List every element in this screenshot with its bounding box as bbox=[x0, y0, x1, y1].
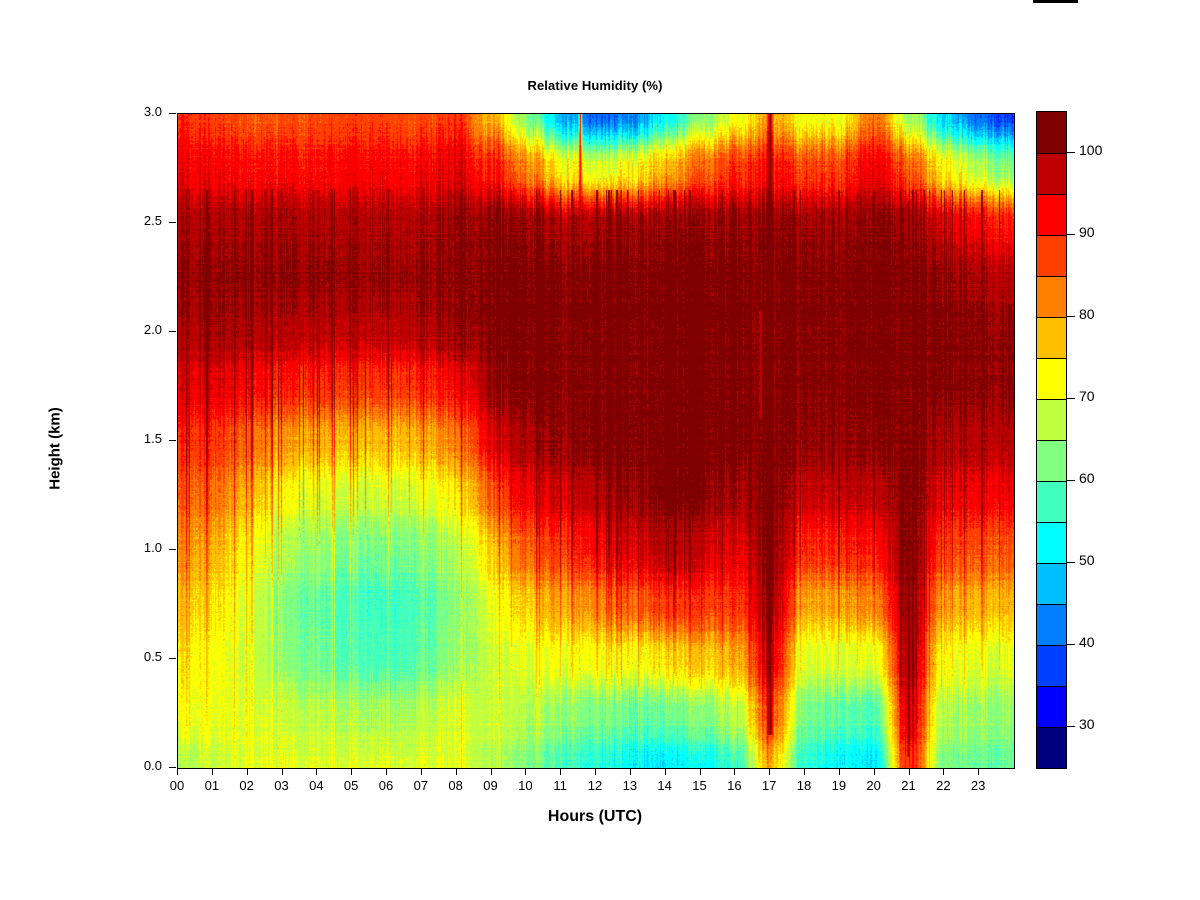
x-axis-tick bbox=[491, 768, 492, 775]
colorbar-tick-label: 30 bbox=[1079, 716, 1095, 732]
y-axis-tick-label: 0.0 bbox=[107, 758, 162, 773]
y-axis-tick bbox=[169, 767, 176, 768]
colorbar-band bbox=[1037, 727, 1066, 768]
colorbar-tick bbox=[1067, 562, 1075, 563]
x-axis-tick bbox=[421, 768, 422, 775]
x-axis-tick-label: 23 bbox=[958, 778, 998, 793]
colorbar-tick-label: 50 bbox=[1079, 552, 1095, 568]
x-axis-tick bbox=[630, 768, 631, 775]
colorbar-tick-label: 90 bbox=[1079, 224, 1095, 240]
y-axis-tick-label: 3.0 bbox=[107, 104, 162, 119]
colorbar-tick bbox=[1067, 644, 1075, 645]
colorbar-band bbox=[1037, 563, 1066, 604]
y-axis-tick bbox=[169, 549, 176, 550]
colorbar-band bbox=[1037, 317, 1066, 358]
y-axis-tick-label: 0.5 bbox=[107, 649, 162, 664]
colorbar-band bbox=[1037, 276, 1066, 317]
y-axis-tick bbox=[169, 440, 176, 441]
x-axis-tick bbox=[943, 768, 944, 775]
x-axis-tick bbox=[177, 768, 178, 775]
heatmap-plot-panel bbox=[177, 113, 1015, 769]
y-axis-tick-label: 1.5 bbox=[107, 431, 162, 446]
x-axis-tick bbox=[839, 768, 840, 775]
x-axis-tick bbox=[665, 768, 666, 775]
colorbar-tick bbox=[1067, 316, 1075, 317]
x-axis-tick bbox=[595, 768, 596, 775]
y-axis-tick-label: 2.5 bbox=[107, 213, 162, 228]
x-axis-tick bbox=[351, 768, 352, 775]
x-axis-tick bbox=[525, 768, 526, 775]
colorbar-band bbox=[1037, 440, 1066, 481]
x-axis-tick bbox=[700, 768, 701, 775]
colorbar-tick bbox=[1067, 726, 1075, 727]
colorbar-tick-label: 80 bbox=[1079, 306, 1095, 322]
colorbar-tick-label: 70 bbox=[1079, 388, 1095, 404]
colorbar-tick-label: 40 bbox=[1079, 634, 1095, 650]
x-axis-tick bbox=[909, 768, 910, 775]
page-title: Relative Humidity (%) bbox=[177, 78, 1013, 93]
colorbar-band bbox=[1037, 153, 1066, 194]
colorbar bbox=[1036, 111, 1067, 769]
x-axis-tick bbox=[212, 768, 213, 775]
y-axis-tick-label: 2.0 bbox=[107, 322, 162, 337]
x-axis-tick bbox=[978, 768, 979, 775]
y-axis-tick-label: 1.0 bbox=[107, 540, 162, 555]
stray-rule-artifact bbox=[1033, 0, 1078, 3]
colorbar-band bbox=[1037, 399, 1066, 440]
y-axis-tick bbox=[169, 222, 176, 223]
x-axis-tick bbox=[247, 768, 248, 775]
colorbar-band bbox=[1037, 358, 1066, 399]
x-axis-tick bbox=[769, 768, 770, 775]
colorbar-band bbox=[1037, 686, 1066, 727]
colorbar-tick bbox=[1067, 152, 1075, 153]
colorbar-tick-label: 100 bbox=[1079, 142, 1102, 158]
x-axis-tick bbox=[456, 768, 457, 775]
colorbar-band bbox=[1037, 112, 1066, 153]
x-axis-tick bbox=[386, 768, 387, 775]
colorbar-tick bbox=[1067, 398, 1075, 399]
figure-root: Relative Humidity (%) 000102030405060708… bbox=[0, 0, 1200, 900]
colorbar-band bbox=[1037, 645, 1066, 686]
humidity-heatmap-canvas bbox=[178, 114, 1014, 768]
x-axis-tick bbox=[874, 768, 875, 775]
x-axis-tick bbox=[282, 768, 283, 775]
colorbar-band bbox=[1037, 194, 1066, 235]
colorbar-tick bbox=[1067, 234, 1075, 235]
y-axis-title: Height (km) bbox=[47, 379, 64, 519]
x-axis-tick bbox=[316, 768, 317, 775]
colorbar-band bbox=[1037, 481, 1066, 522]
colorbar-tick-label: 60 bbox=[1079, 470, 1095, 486]
colorbar-band bbox=[1037, 235, 1066, 276]
x-axis-title: Hours (UTC) bbox=[177, 808, 1013, 826]
x-axis-tick bbox=[804, 768, 805, 775]
colorbar-band bbox=[1037, 522, 1066, 563]
colorbar-band bbox=[1037, 604, 1066, 645]
y-axis-tick bbox=[169, 113, 176, 114]
x-axis-tick bbox=[560, 768, 561, 775]
x-axis-tick bbox=[734, 768, 735, 775]
y-axis-tick bbox=[169, 658, 176, 659]
y-axis-tick bbox=[169, 331, 176, 332]
colorbar-tick bbox=[1067, 480, 1075, 481]
